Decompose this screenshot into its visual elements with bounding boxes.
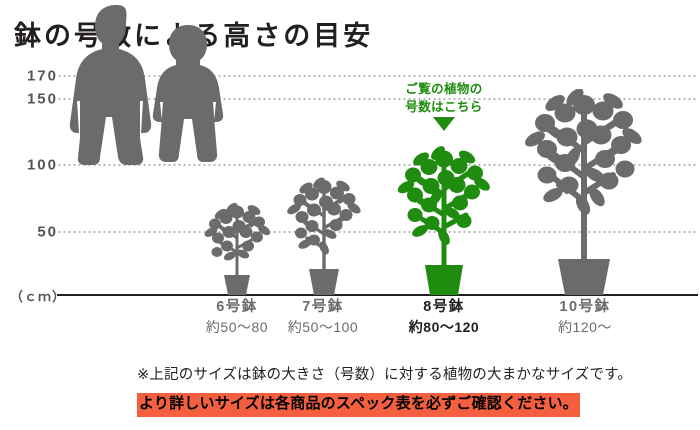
- chart-plot-area: 170 150 100 50 （ｃｍ）: [0, 0, 700, 300]
- column-name-10go: 10号鉢: [510, 298, 660, 318]
- ytick-100: 100: [0, 157, 58, 174]
- man-silhouette: [66, 5, 166, 165]
- infographic-root: 鉢の号数による高さの目安 170 150 100 50 （ｃｍ）: [0, 0, 700, 430]
- woman-silhouette: [152, 25, 224, 162]
- column-label-10go: 10号鉢 約120〜: [510, 298, 660, 336]
- footnote-spec-highlight: より詳しいサイズは各商品のスペック表を必ずご確認ください。: [137, 393, 580, 417]
- callout-line-2: 号数はこちら: [382, 98, 506, 116]
- tree-8go-highlighted: [396, 135, 492, 295]
- column-range-10go: 約120〜: [510, 318, 660, 337]
- ytick-150: 150: [0, 91, 58, 108]
- down-triangle-icon: [433, 117, 455, 131]
- callout-line-1: ご覧の植物の: [382, 80, 506, 98]
- column-label-8go: 8号鉢 約80〜120: [369, 298, 519, 336]
- tree-7go: [283, 158, 365, 295]
- tree-6go: [199, 180, 275, 295]
- column-name-8go: 8号鉢: [369, 298, 519, 318]
- tree-10go: [525, 89, 643, 295]
- footnote-size-guide: ※上記のサイズは鉢の大きさ（号数）に対する植物の大まかなサイズです。: [137, 363, 632, 384]
- callout-highlight: ご覧の植物の 号数はこちら: [382, 80, 506, 131]
- ytick-50: 50: [0, 224, 58, 241]
- footnote-spec-wrap: より詳しいサイズは各商品のスペック表を必ずご確認ください。: [137, 393, 580, 417]
- column-range-8go: 約80〜120: [369, 318, 519, 337]
- ytick-170: 170: [0, 68, 58, 85]
- axis-unit-label: （ｃｍ）: [10, 286, 66, 305]
